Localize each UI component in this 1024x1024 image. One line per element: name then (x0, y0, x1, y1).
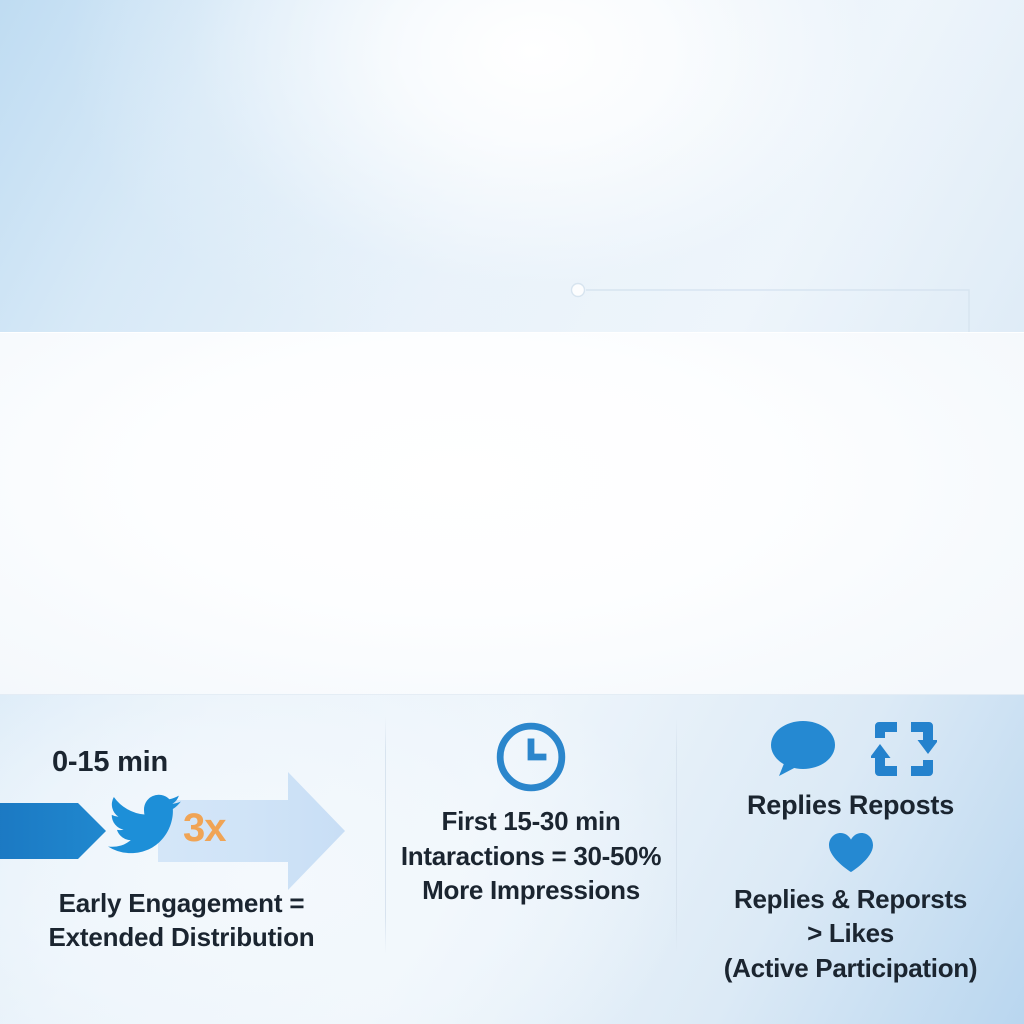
reply-bubble-icon (765, 719, 837, 779)
interaction-icon-row (677, 718, 1024, 780)
caption-line: More Impressions (378, 873, 684, 908)
heart-icon (828, 832, 874, 874)
interaction-icons-label: Replies Reposts (677, 790, 1024, 821)
caption-early-engagement: Early Engagement = Extended Distribution (0, 886, 363, 955)
infographic-canvas: 0-15 min (0, 0, 1024, 1024)
caption-impressions: First 15-30 min Intaractions = 30-50% Mo… (378, 804, 684, 908)
caption-interactions: Replies & Reporsts > Likes (Active Parti… (677, 882, 1024, 985)
connector-node-top (572, 284, 585, 297)
caption-line: (Active Participation) (677, 951, 1024, 985)
caption-line: First 15-30 min (378, 804, 684, 839)
clock-icon (494, 720, 568, 794)
caption-line: > Likes (677, 916, 1024, 950)
panel-impressions: First 15-30 min Intaractions = 30-50% Mo… (386, 664, 676, 1024)
caption-line: Replies & Reporsts (677, 882, 1024, 916)
panel-interactions: Replies Reposts Replies & Reporsts > Lik… (677, 664, 1024, 1024)
multiplier-badge: 3x (183, 808, 226, 848)
repost-icon (871, 718, 937, 780)
caption-line: Extended Distribution (0, 920, 363, 954)
caption-line: Intaractions = 30-50% (378, 839, 684, 874)
twitter-bird-icon (108, 792, 182, 858)
infographic-card: 0-15 min (0, 332, 1024, 695)
panel-early-engagement: 0-15 min (0, 664, 385, 1024)
caption-line: Early Engagement = (0, 886, 363, 920)
